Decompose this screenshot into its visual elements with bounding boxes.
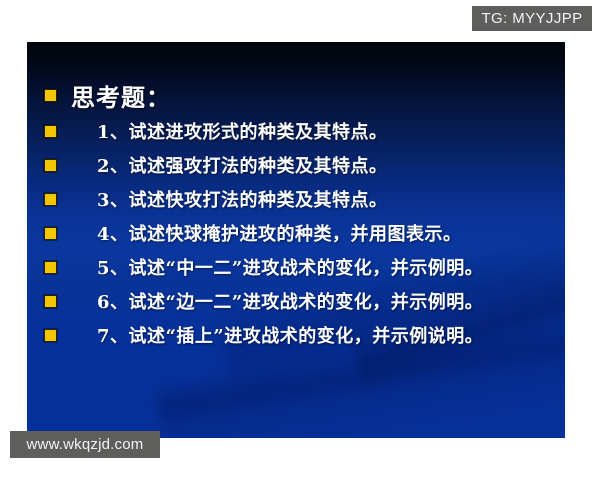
slide-content: 思考题： 1、试述进攻形式的种类及其特点。 2、试述强攻打法的种类及其特点。 3…: [27, 42, 565, 438]
list-item: 6、试述“边一二”进攻战术的变化，并示例明。: [44, 288, 483, 314]
list-item: 1、试述进攻形式的种类及其特点。: [44, 118, 388, 144]
list-item-text: 5、试述“中一二”进攻战术的变化，并示例明。: [97, 254, 483, 280]
list-item-text: 6、试述“边一二”进攻战术的变化，并示例明。: [97, 288, 483, 314]
page-canvas: 思考题： 1、试述进攻形式的种类及其特点。 2、试述强攻打法的种类及其特点。 3…: [0, 0, 600, 480]
website-watermark-badge: www.wkqzjd.com: [10, 431, 160, 458]
square-bullet-icon: [44, 329, 57, 342]
square-bullet-icon: [44, 193, 57, 206]
slide-title-text: 思考题：: [71, 78, 171, 113]
list-item-text: 1、试述进攻形式的种类及其特点。: [97, 118, 388, 144]
list-item-text: 3、试述快攻打法的种类及其特点。: [97, 186, 388, 212]
list-item: 3、试述快攻打法的种类及其特点。: [44, 186, 388, 212]
square-bullet-icon: [44, 125, 57, 138]
list-item-text: 4、试述快球掩护进攻的种类，并用图表示。: [97, 220, 462, 246]
list-item: 7、试述“插上”进攻战术的变化，并示例说明。: [44, 322, 483, 348]
square-bullet-icon: [44, 89, 57, 102]
square-bullet-icon: [44, 227, 57, 240]
slide-title: 思考题：: [44, 78, 171, 113]
square-bullet-icon: [44, 261, 57, 274]
list-item: 5、试述“中一二”进攻战术的变化，并示例明。: [44, 254, 483, 280]
square-bullet-icon: [44, 159, 57, 172]
list-item-text: 2、试述强攻打法的种类及其特点。: [97, 152, 388, 178]
list-item: 4、试述快球掩护进攻的种类，并用图表示。: [44, 220, 462, 246]
telegram-watermark-badge: TG: MYYJJPP: [472, 6, 592, 31]
square-bullet-icon: [44, 295, 57, 308]
presentation-slide: 思考题： 1、试述进攻形式的种类及其特点。 2、试述强攻打法的种类及其特点。 3…: [27, 42, 565, 438]
list-item-text: 7、试述“插上”进攻战术的变化，并示例说明。: [97, 322, 483, 348]
list-item: 2、试述强攻打法的种类及其特点。: [44, 152, 388, 178]
